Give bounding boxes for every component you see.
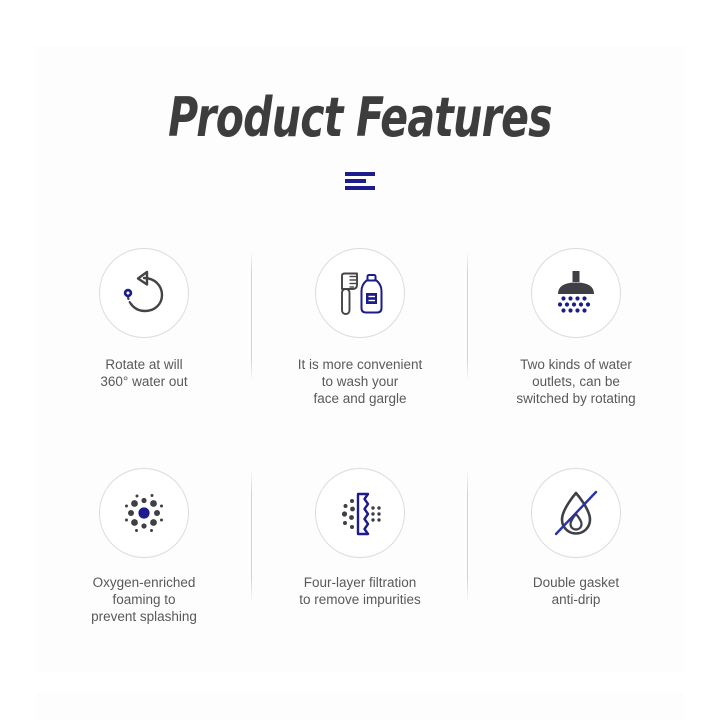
feature-caption: Double gasket anti-drip [533,574,619,608]
rotate-arrow-icon [99,248,189,338]
feature-caption: It is more convenient to wash your face … [298,356,423,407]
three-bar-divider-mark [345,172,375,190]
filter-membrane-icon [315,468,405,558]
feature-caption: Rotate at will 360° water out [100,356,187,390]
divider-bar-top [345,172,375,176]
page-root: Product Features Rotate [0,0,720,720]
divider-bar-middle [345,179,366,183]
page-title: Product Features [114,88,606,148]
shower-head-icon [531,248,621,338]
content-area: Product Features Rotate [36,46,684,672]
feature-item-wash: It is more convenient to wash your face … [252,232,468,452]
feature-item-anti-drip: Double gasket anti-drip [468,452,684,672]
divider-bar-bottom [345,186,375,190]
feature-caption: Two kinds of water outlets, can be switc… [516,356,635,407]
feature-item-outlets: Two kinds of water outlets, can be switc… [468,232,684,452]
feature-item-rotate: Rotate at will 360° water out [36,232,252,452]
no-drip-droplet-icon [531,468,621,558]
feature-item-filtration: Four-layer filtration to remove impuriti… [252,452,468,672]
toothbrush-and-bottle-icon [315,248,405,338]
feature-grid: Rotate at will 360° water out [36,232,684,672]
feature-caption: Oxygen-enriched foaming to prevent splas… [91,574,197,625]
feature-caption: Four-layer filtration to remove impuriti… [299,574,421,608]
content-panel-bottom-strip [36,692,684,720]
feature-item-oxygen: Oxygen-enriched foaming to prevent splas… [36,452,252,672]
oxygen-bubbles-icon [99,468,189,558]
